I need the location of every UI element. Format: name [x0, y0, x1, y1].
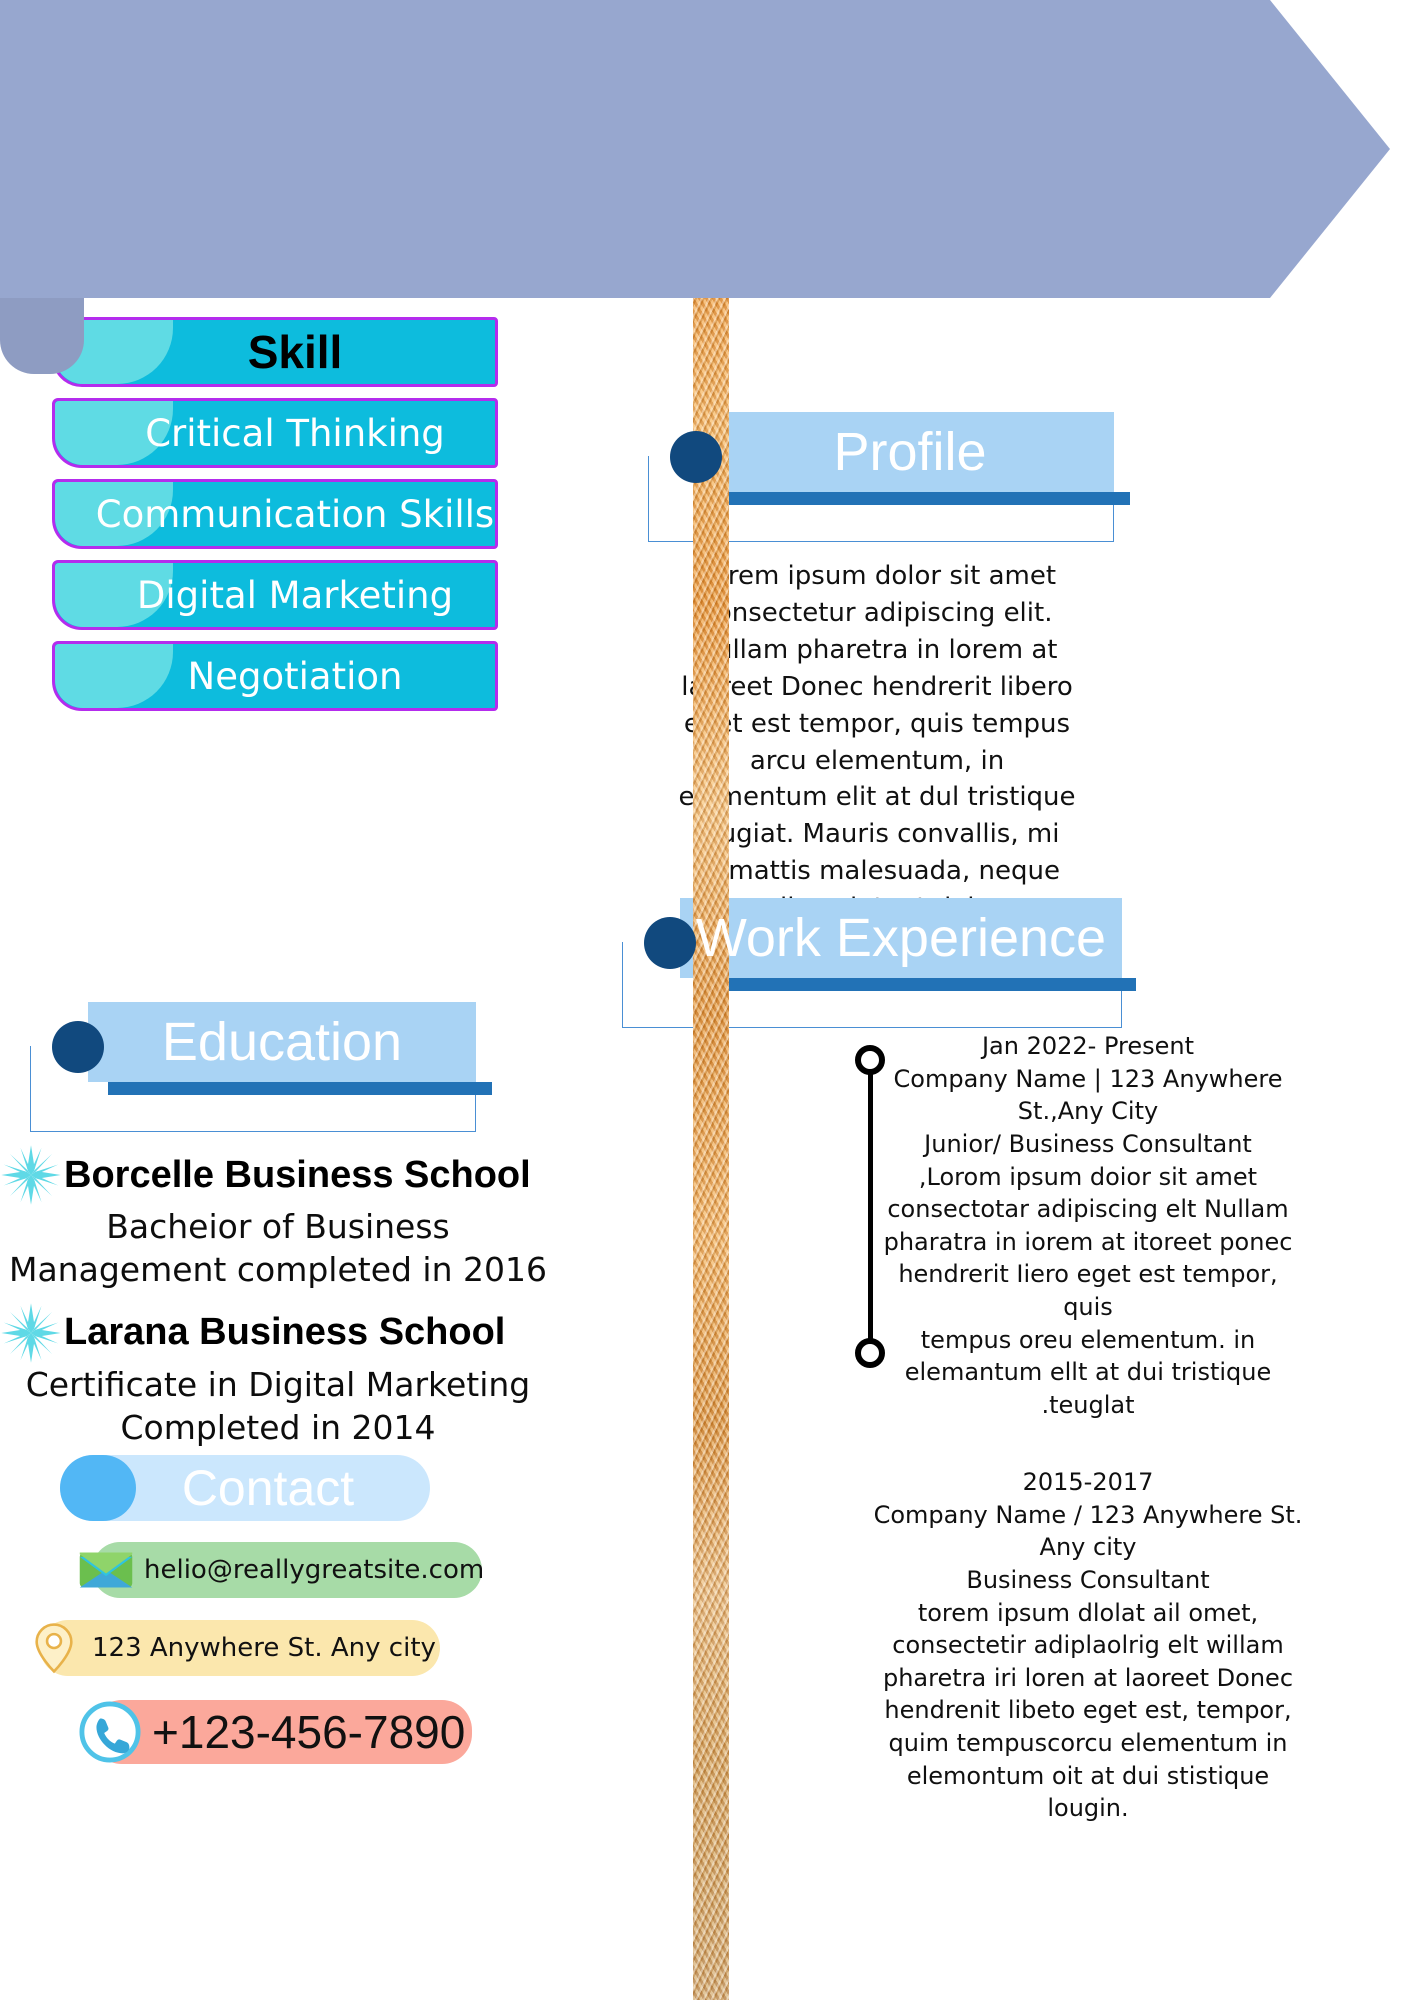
job-line: pharetra iri loren at laoreet Donec	[872, 1662, 1304, 1695]
profile-title: Profile	[833, 421, 986, 483]
email-icon	[78, 1542, 134, 1598]
header-box: Profile	[706, 412, 1114, 492]
contact-section-header: Contact	[30, 1455, 430, 1521]
education-detail: Certificate in Digital Marketing Complet…	[0, 1364, 556, 1450]
job-line: St.,Any City	[878, 1095, 1298, 1128]
header-underline	[700, 978, 1136, 991]
address-value: 123 Anywhere St. Any city	[92, 1633, 436, 1663]
skill-label: Negotiation	[148, 655, 403, 698]
education-entry-1: Larana Business School Certificate in Di…	[0, 1302, 556, 1450]
skill-label: Digital Marketing	[97, 574, 453, 617]
job-line: elemontum oit at dui stistique lougin.	[872, 1760, 1304, 1825]
phone-value: +123-456-7890	[152, 1705, 465, 1759]
header-underline	[726, 492, 1130, 505]
job-line: elemantum ellt at dui tristique	[878, 1356, 1298, 1389]
skill-label: Critical Thinking	[105, 412, 445, 455]
education-school-name: Borcelle Business School	[64, 1154, 531, 1197]
job-line: Jan 2022- Present	[878, 1030, 1298, 1063]
skill-item-2[interactable]: Digital Marketing	[52, 560, 498, 630]
skills-title-bar: Skill	[52, 317, 498, 387]
sparkle-star-icon	[0, 1144, 62, 1206]
job-line: quim tempuscorcu elementum in	[872, 1727, 1304, 1760]
education-list: Borcelle Business School Bacheior of Bus…	[0, 1144, 556, 1460]
skill-label: Communication Skills	[56, 493, 494, 536]
header-banner-fold	[0, 296, 84, 374]
sparkle-star-icon	[0, 1302, 62, 1364]
education-school-name: Larana Business School	[64, 1311, 505, 1354]
contact-title: Contact	[136, 1459, 354, 1517]
profile-body-text: Lorem ipsum dolor sit amet consectetur a…	[678, 558, 1076, 927]
skill-item-1[interactable]: Communication Skills	[52, 479, 498, 549]
gold-divider	[693, 298, 729, 2000]
header-dot-icon	[52, 1021, 104, 1073]
job-line: hendrenit libeto eget est, tempor,	[872, 1694, 1304, 1727]
job-line: Junior/ Business Consultant	[878, 1128, 1298, 1161]
contact-header-dot-icon	[60, 1455, 136, 1521]
job-line: hendrerit Iiero eget est tempor, quis	[878, 1258, 1298, 1323]
skill-item-0[interactable]: Critical Thinking	[52, 398, 498, 468]
education-entry-0: Borcelle Business School Bacheior of Bus…	[0, 1144, 556, 1292]
skills-section: Skill Critical Thinking Communication Sk…	[52, 317, 498, 722]
email-value: helio@reallygreatsite.com	[144, 1555, 484, 1585]
education-title: Education	[162, 1011, 402, 1073]
job-line: consectetir adiplaolrig elt willam	[872, 1629, 1304, 1662]
job-line: Any city	[872, 1531, 1304, 1564]
header-underline	[108, 1082, 492, 1095]
header-box: Work Experience	[680, 898, 1122, 978]
contact-item-phone[interactable]: +123-456-7890	[92, 1700, 472, 1764]
education-detail: Bacheior of Business Management complete…	[0, 1206, 556, 1292]
header-banner	[0, 0, 1390, 298]
contact-item-address[interactable]: 123 Anywhere St. Any city	[40, 1620, 440, 1676]
job-line: Company Name / 123 Anywhere St.	[872, 1499, 1304, 1532]
phone-icon	[78, 1700, 142, 1764]
job-line: ,Lorom ipsum doior sit amet	[878, 1161, 1298, 1194]
location-pin-icon	[26, 1620, 82, 1676]
job-line: consectotar adipiscing elt Nullam	[878, 1193, 1298, 1226]
resume-page: Isabel Schumache Sales Representative Sk…	[0, 0, 1414, 2000]
header-dot-icon	[670, 431, 722, 483]
job-line: 2015-2017	[872, 1466, 1304, 1499]
skills-title: Skill	[208, 325, 343, 379]
skill-item-3[interactable]: Negotiation	[52, 641, 498, 711]
job-line: pharatra in iorem at itoreet ponec	[878, 1226, 1298, 1259]
job-line: torem ipsum dlolat ail omet,	[872, 1597, 1304, 1630]
header-dot-icon	[644, 917, 696, 969]
job-line: Business Consultant	[872, 1564, 1304, 1597]
job-line: Company Name | 123 Anywhere	[878, 1063, 1298, 1096]
job-line: tempus oreu elementum. in	[878, 1324, 1298, 1357]
timeline-line	[868, 1060, 873, 1348]
job-entry-1: 2015-2017 Company Name / 123 Anywhere St…	[872, 1466, 1304, 1825]
header-box: Education	[88, 1002, 476, 1082]
job-line: .teuglat	[878, 1389, 1298, 1422]
job-entry-0: Jan 2022- Present Company Name | 123 Any…	[878, 1030, 1298, 1422]
contact-item-email[interactable]: helio@reallygreatsite.com	[92, 1542, 482, 1598]
work-experience-title: Work Experience	[696, 907, 1106, 969]
